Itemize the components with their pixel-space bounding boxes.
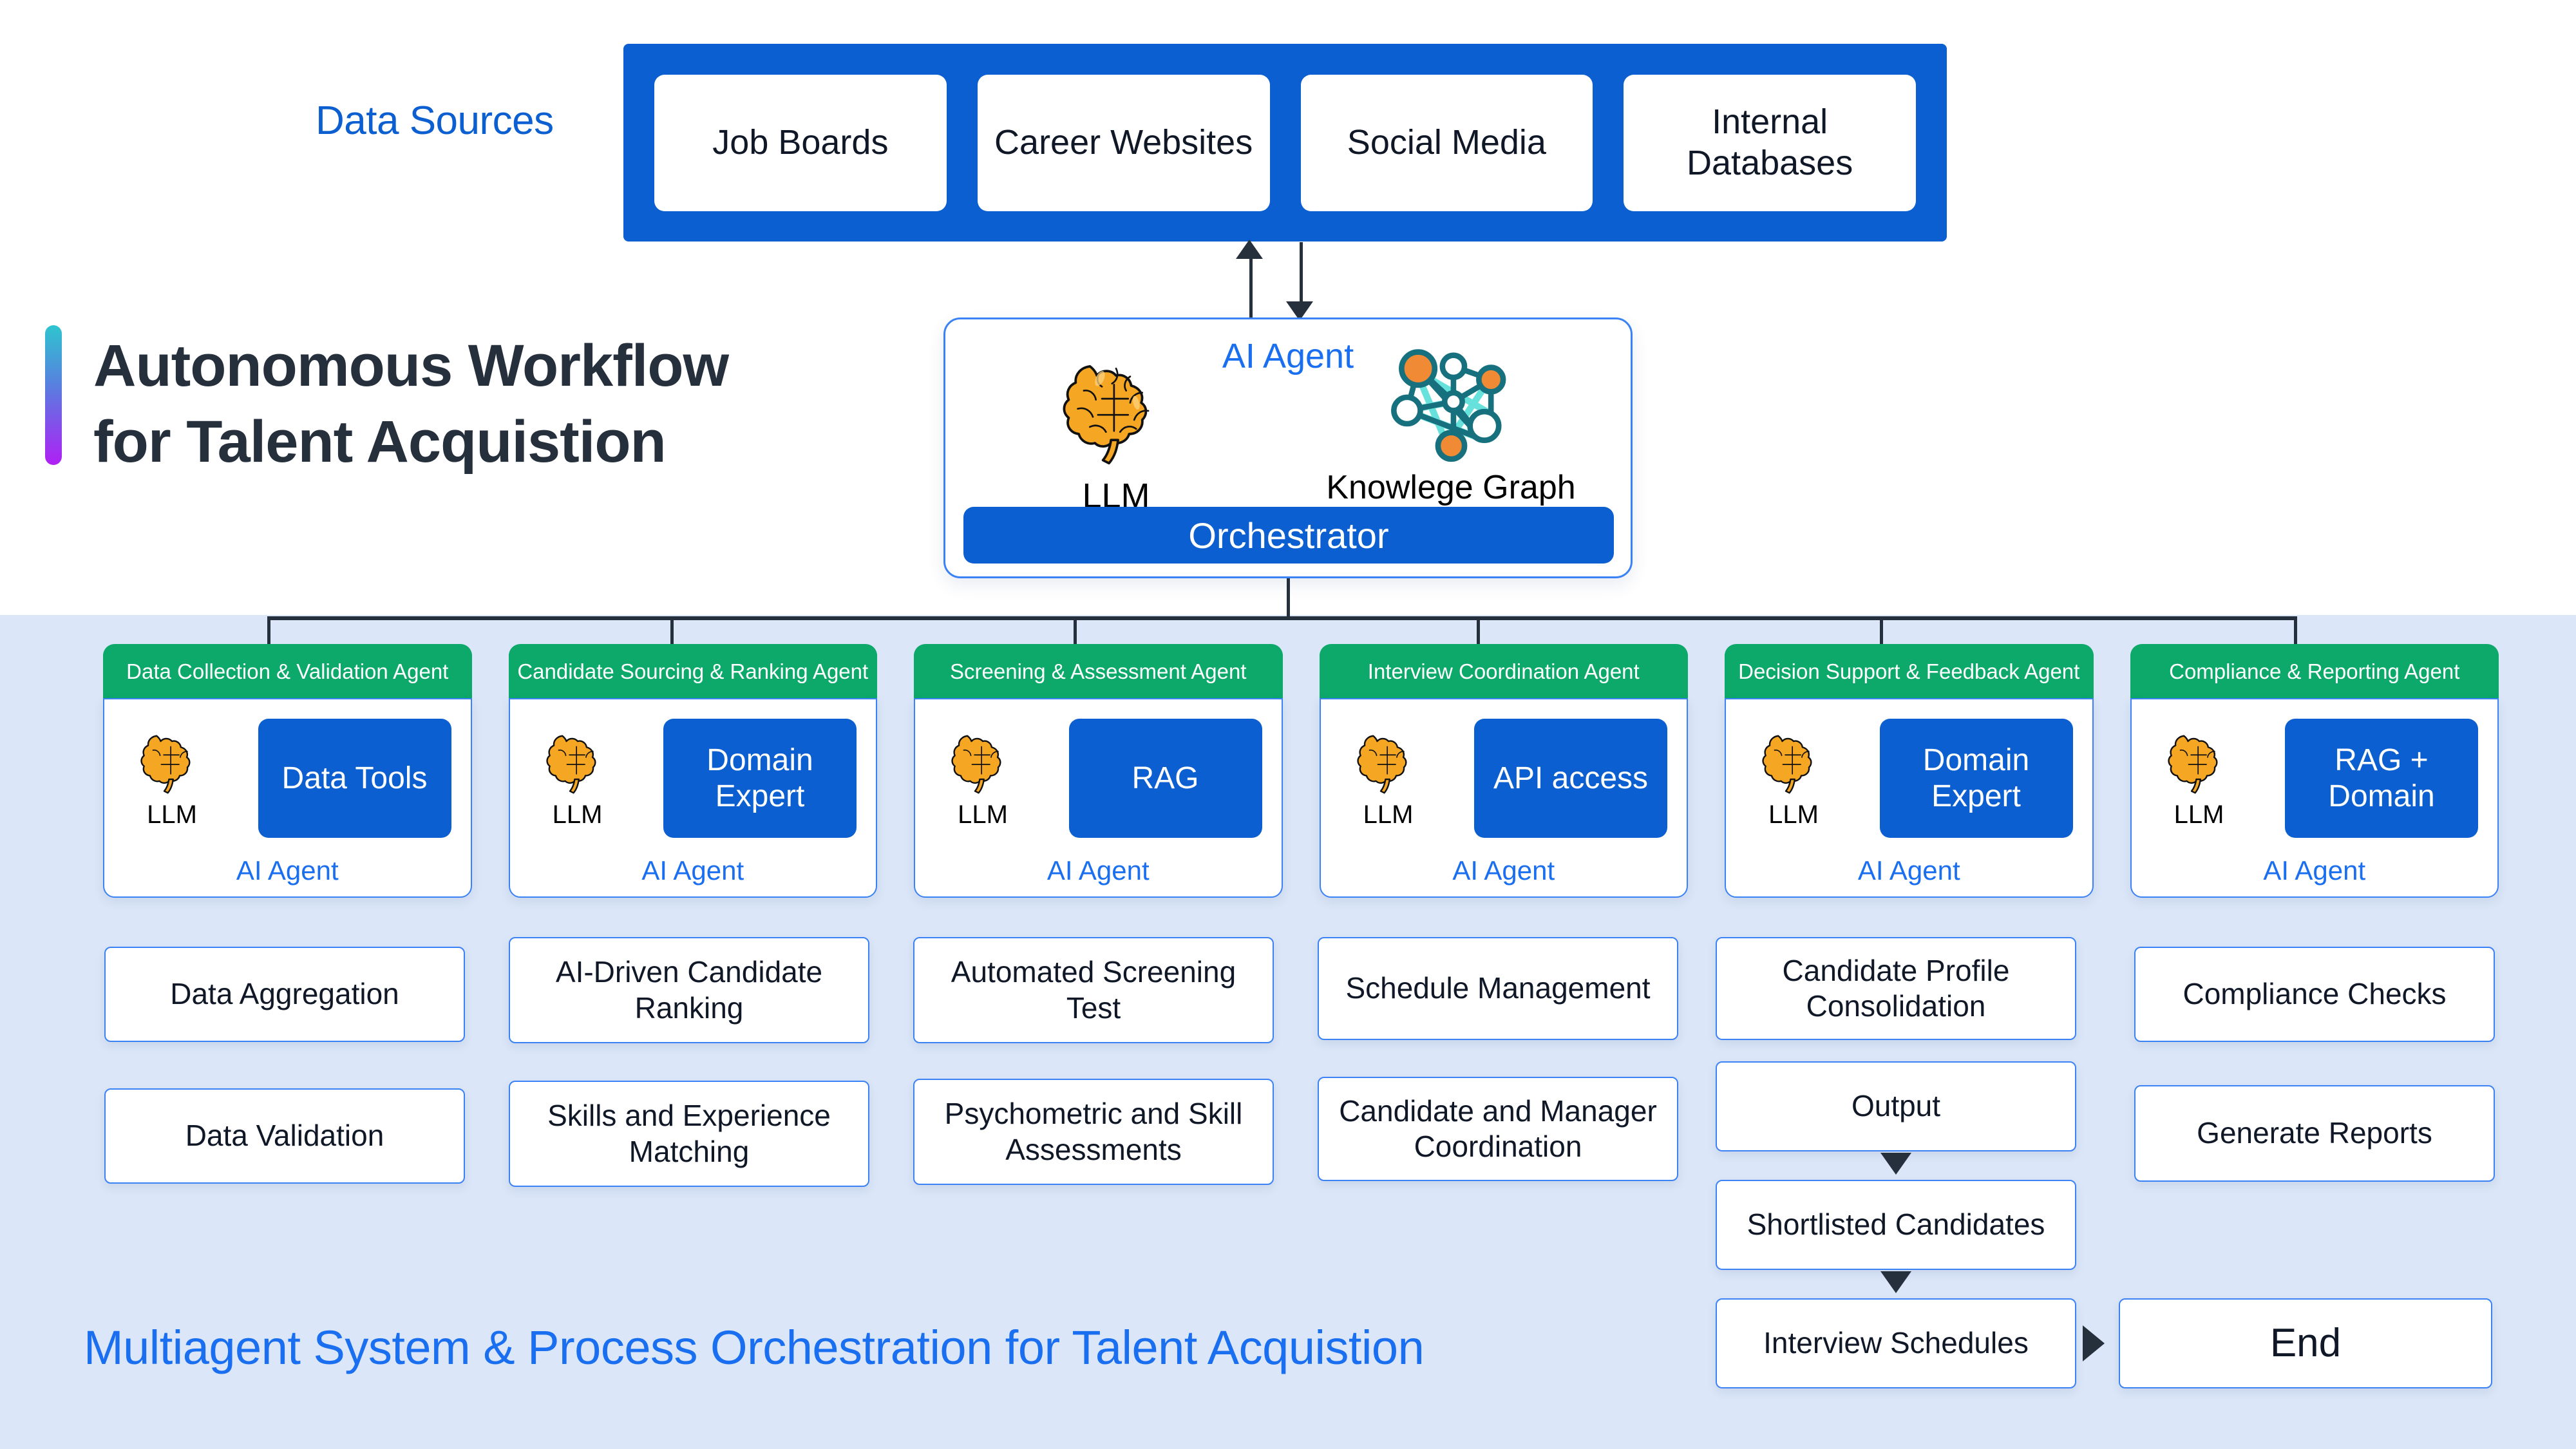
distribution-bus	[267, 616, 2297, 620]
main-knowledge-graph-caption: Knowlege Graph	[1312, 468, 1589, 507]
task-output[interactable]: Output	[1716, 1061, 2076, 1151]
task-data-aggregation[interactable]: Data Aggregation	[104, 947, 465, 1042]
brain-icon	[947, 786, 1019, 797]
agent-llm-caption: LLM	[1347, 800, 1430, 829]
agent-tool-box[interactable]: RAG + Domain	[2285, 719, 2478, 838]
agent-ai-agent-label: AI Agent	[104, 855, 471, 886]
task-candidate-manager-coordination[interactable]: Candidate and Manager Coordination	[1318, 1077, 1678, 1181]
agent-card-decision-support[interactable]: Decision Support & Feedback Agent	[1725, 644, 2094, 902]
task-candidate-profile-consolidation[interactable]: Candidate Profile Consolidation	[1716, 937, 2076, 1040]
agent-card-candidate-sourcing[interactable]: Candidate Sourcing & Ranking Agent	[509, 644, 878, 902]
agent-tool-box[interactable]: RAG	[1069, 719, 1262, 838]
agent-card-body: LLM RAG + Domain AI Agent	[2130, 698, 2499, 898]
agent-card-interview-coordination[interactable]: Interview Coordination Agent	[1320, 644, 1689, 902]
agent-card-body: LLM API access AI Agent	[1320, 698, 1689, 898]
agent-card-screening-assessment[interactable]: Screening & Assessment Agent	[914, 644, 1283, 902]
page-title-line-1: Autonomous Workflow	[93, 328, 898, 404]
agent-card-header: Compliance & Reporting Agent	[2130, 644, 2499, 698]
agent-card-body: LLM Domain Expert AI Agent	[1725, 698, 2094, 898]
agent-llm-block: LLM	[1752, 726, 1835, 829]
agent-card-header: Decision Support & Feedback Agent	[1725, 644, 2094, 698]
agent-llm-block: LLM	[1347, 726, 1430, 829]
orchestrator-stem	[1287, 578, 1290, 618]
agent-llm-caption: LLM	[130, 800, 214, 829]
brain-icon	[1757, 786, 1830, 797]
agent-tool-box[interactable]: Domain Expert	[663, 719, 857, 838]
agent-card-header: Interview Coordination Agent	[1320, 644, 1689, 698]
agent-llm-caption: LLM	[2157, 800, 2241, 829]
task-schedule-management[interactable]: Schedule Management	[1318, 937, 1678, 1040]
main-knowledge-graph-block: Knowlege Graph	[1312, 346, 1589, 507]
data-sources-label: Data Sources	[316, 98, 554, 144]
task-shortlisted-candidates[interactable]: Shortlisted Candidates	[1716, 1180, 2076, 1270]
agent-card-body: LLM Data Tools AI Agent	[103, 698, 472, 898]
agent-card-body: LLM RAG AI Agent	[914, 698, 1283, 898]
agent-card-header: Screening & Assessment Agent	[914, 644, 1283, 698]
agent-ai-agent-label: AI Agent	[1321, 855, 1687, 886]
page-title: Autonomous Workflow for Talent Acquistio…	[93, 328, 898, 480]
agent-ai-agent-label: AI Agent	[510, 855, 876, 886]
agent-cards-row: Data Collection & Validation Agent	[103, 644, 2499, 902]
brain-icon	[2163, 786, 2235, 797]
task-skills-experience-matching[interactable]: Skills and Experience Matching	[509, 1081, 869, 1187]
task-psychometric-skill-assessments[interactable]: Psychometric and Skill Assessments	[913, 1079, 1274, 1185]
flow-arrow-interview-to-end	[2083, 1325, 2105, 1361]
agent-card-compliance-reporting[interactable]: Compliance & Reporting Agent	[2130, 644, 2499, 902]
data-source-card-job-boards[interactable]: Job Boards	[654, 75, 947, 211]
brain-icon	[136, 786, 208, 797]
task-interview-schedules[interactable]: Interview Schedules	[1716, 1298, 2076, 1388]
title-gradient-bar	[45, 325, 62, 465]
main-llm-block: LLM	[1042, 350, 1190, 516]
agent-ai-agent-label: AI Agent	[2132, 855, 2498, 886]
agent-tool-box[interactable]: Data Tools	[258, 719, 451, 838]
data-source-card-career-websites[interactable]: Career Websites	[978, 75, 1270, 211]
agent-ai-agent-label: AI Agent	[1726, 855, 2092, 886]
agent-llm-block: LLM	[2157, 726, 2241, 829]
flow-arrow-shortlisted-to-interview	[1880, 1271, 1911, 1293]
brain-icon	[1055, 458, 1177, 469]
agent-tool-box[interactable]: Domain Expert	[1880, 719, 2073, 838]
arrow-up-shaft-agent-to-sources	[1249, 256, 1253, 319]
diagram-canvas: Data Sources Job Boards Career Websites …	[0, 0, 2576, 1449]
flow-arrow-output-to-shortlisted	[1880, 1153, 1911, 1175]
data-sources-bar: Job Boards Career Websites Social Media …	[623, 44, 1947, 241]
agent-ai-agent-label: AI Agent	[915, 855, 1282, 886]
agent-tool-box[interactable]: API access	[1474, 719, 1667, 838]
page-title-line-2: for Talent Acquistion	[93, 404, 898, 480]
agent-card-header: Data Collection & Validation Agent	[103, 644, 472, 698]
task-data-validation[interactable]: Data Validation	[104, 1088, 465, 1184]
agent-card-header: Candidate Sourcing & Ranking Agent	[509, 644, 878, 698]
brain-icon	[1352, 786, 1425, 797]
arrow-down-shaft-sources-to-agent	[1300, 242, 1303, 305]
agent-llm-block: LLM	[130, 726, 214, 829]
data-source-card-internal-databases[interactable]: Internal Databases	[1624, 75, 1916, 211]
knowledge-graph-icon	[1382, 454, 1520, 465]
agent-card-data-collection[interactable]: Data Collection & Validation Agent	[103, 644, 472, 902]
data-source-card-social-media[interactable]: Social Media	[1301, 75, 1593, 211]
task-end[interactable]: End	[2119, 1298, 2492, 1388]
task-compliance-checks[interactable]: Compliance Checks	[2134, 947, 2495, 1042]
task-ai-driven-candidate-ranking[interactable]: AI-Driven Candidate Ranking	[509, 937, 869, 1043]
agent-llm-block: LLM	[941, 726, 1025, 829]
task-generate-reports[interactable]: Generate Reports	[2134, 1085, 2495, 1182]
agent-card-body: LLM Domain Expert AI Agent	[509, 698, 878, 898]
bottom-caption: Multiagent System & Process Orchestratio…	[84, 1320, 1424, 1375]
arrow-up-head-agent-to-sources	[1236, 240, 1263, 259]
orchestrator-bar[interactable]: Orchestrator	[963, 507, 1614, 563]
agent-llm-caption: LLM	[1752, 800, 1835, 829]
agent-llm-caption: LLM	[941, 800, 1025, 829]
brain-icon	[542, 786, 614, 797]
main-ai-agent-body: AI Agent	[945, 319, 1631, 524]
main-ai-agent-card[interactable]: AI Agent	[943, 317, 1633, 578]
task-automated-screening-test[interactable]: Automated Screening Test	[913, 937, 1274, 1043]
agent-llm-block: LLM	[536, 726, 620, 829]
agent-llm-caption: LLM	[536, 800, 620, 829]
